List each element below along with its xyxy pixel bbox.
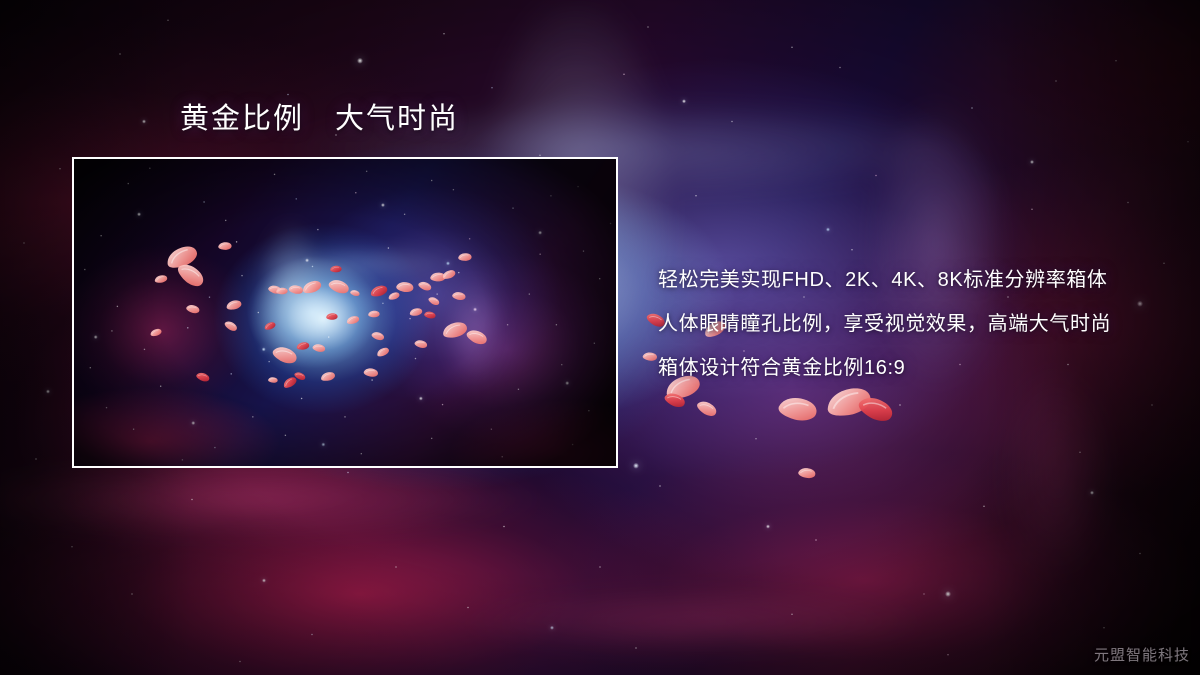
page-title: 黄金比例 大气时尚 xyxy=(180,101,459,137)
petal-icon xyxy=(218,240,232,252)
petal-icon xyxy=(662,388,689,412)
body-line-3: 箱体设计符合黄金比例16:9 xyxy=(658,346,1158,390)
petal-icon xyxy=(291,366,309,386)
petal-icon xyxy=(184,298,203,319)
petal-icon xyxy=(425,292,442,310)
petal-icon xyxy=(853,390,899,427)
petal-icon xyxy=(151,273,170,284)
petal-icon xyxy=(430,272,446,282)
petal-icon xyxy=(326,276,351,296)
petal-icon xyxy=(450,287,467,306)
petal-icon xyxy=(463,324,491,350)
petal-icon xyxy=(330,264,342,274)
watermark: 元盟智能科技 xyxy=(1094,644,1190,665)
petal-icon xyxy=(348,285,362,301)
petal-icon xyxy=(441,268,457,281)
petal-icon xyxy=(411,338,431,351)
petal-icon xyxy=(195,370,212,385)
petal-icon xyxy=(407,307,424,318)
petal-icon xyxy=(225,298,243,311)
petal-icon xyxy=(221,315,242,336)
petal-icon xyxy=(423,309,437,322)
petal-icon xyxy=(276,286,288,296)
petal-icon xyxy=(262,316,279,335)
petal-icon xyxy=(299,278,326,297)
petal-icon xyxy=(279,374,301,392)
petal-icon xyxy=(294,341,313,351)
petal-icon xyxy=(368,310,380,318)
petal-icon xyxy=(689,394,725,423)
petal-icon xyxy=(269,341,300,368)
petal-icon xyxy=(386,287,402,306)
petal-icon xyxy=(345,314,361,325)
presentation-slide: 黄金比例 大气时尚 轻松完美实现FHD、2K、4K、8K标准分辨率箱体 人体眼睛… xyxy=(0,0,1200,675)
body-copy-block: 轻松完美实现FHD、2K、4K、8K标准分辨率箱体 人体眼睛瞳孔比例，享受视觉效… xyxy=(658,258,1158,390)
petal-field-inner xyxy=(74,159,616,466)
petal-icon xyxy=(367,278,390,304)
petal-icon xyxy=(267,371,279,388)
petal-icon xyxy=(458,252,472,262)
petal-icon xyxy=(361,367,380,379)
petal-icon xyxy=(415,276,434,296)
petal-icon xyxy=(287,283,305,295)
body-line-2: 人体眼睛瞳孔比例，享受视觉效果，高端大气时尚 xyxy=(658,302,1158,346)
body-line-1: 轻松完美实现FHD、2K、4K、8K标准分辨率箱体 xyxy=(658,258,1158,302)
petal-icon xyxy=(395,280,414,294)
petal-icon xyxy=(311,342,327,353)
petal-icon xyxy=(317,370,338,383)
petal-icon xyxy=(796,459,818,488)
petal-icon xyxy=(149,327,163,339)
petal-icon xyxy=(641,351,658,362)
petal-icon xyxy=(375,345,391,358)
petal-icon xyxy=(369,330,387,343)
petal-icon xyxy=(326,312,338,321)
petal-icon xyxy=(440,317,470,343)
petal-icon xyxy=(158,239,206,274)
petal-icon xyxy=(267,283,283,296)
petal-icon xyxy=(171,255,211,294)
